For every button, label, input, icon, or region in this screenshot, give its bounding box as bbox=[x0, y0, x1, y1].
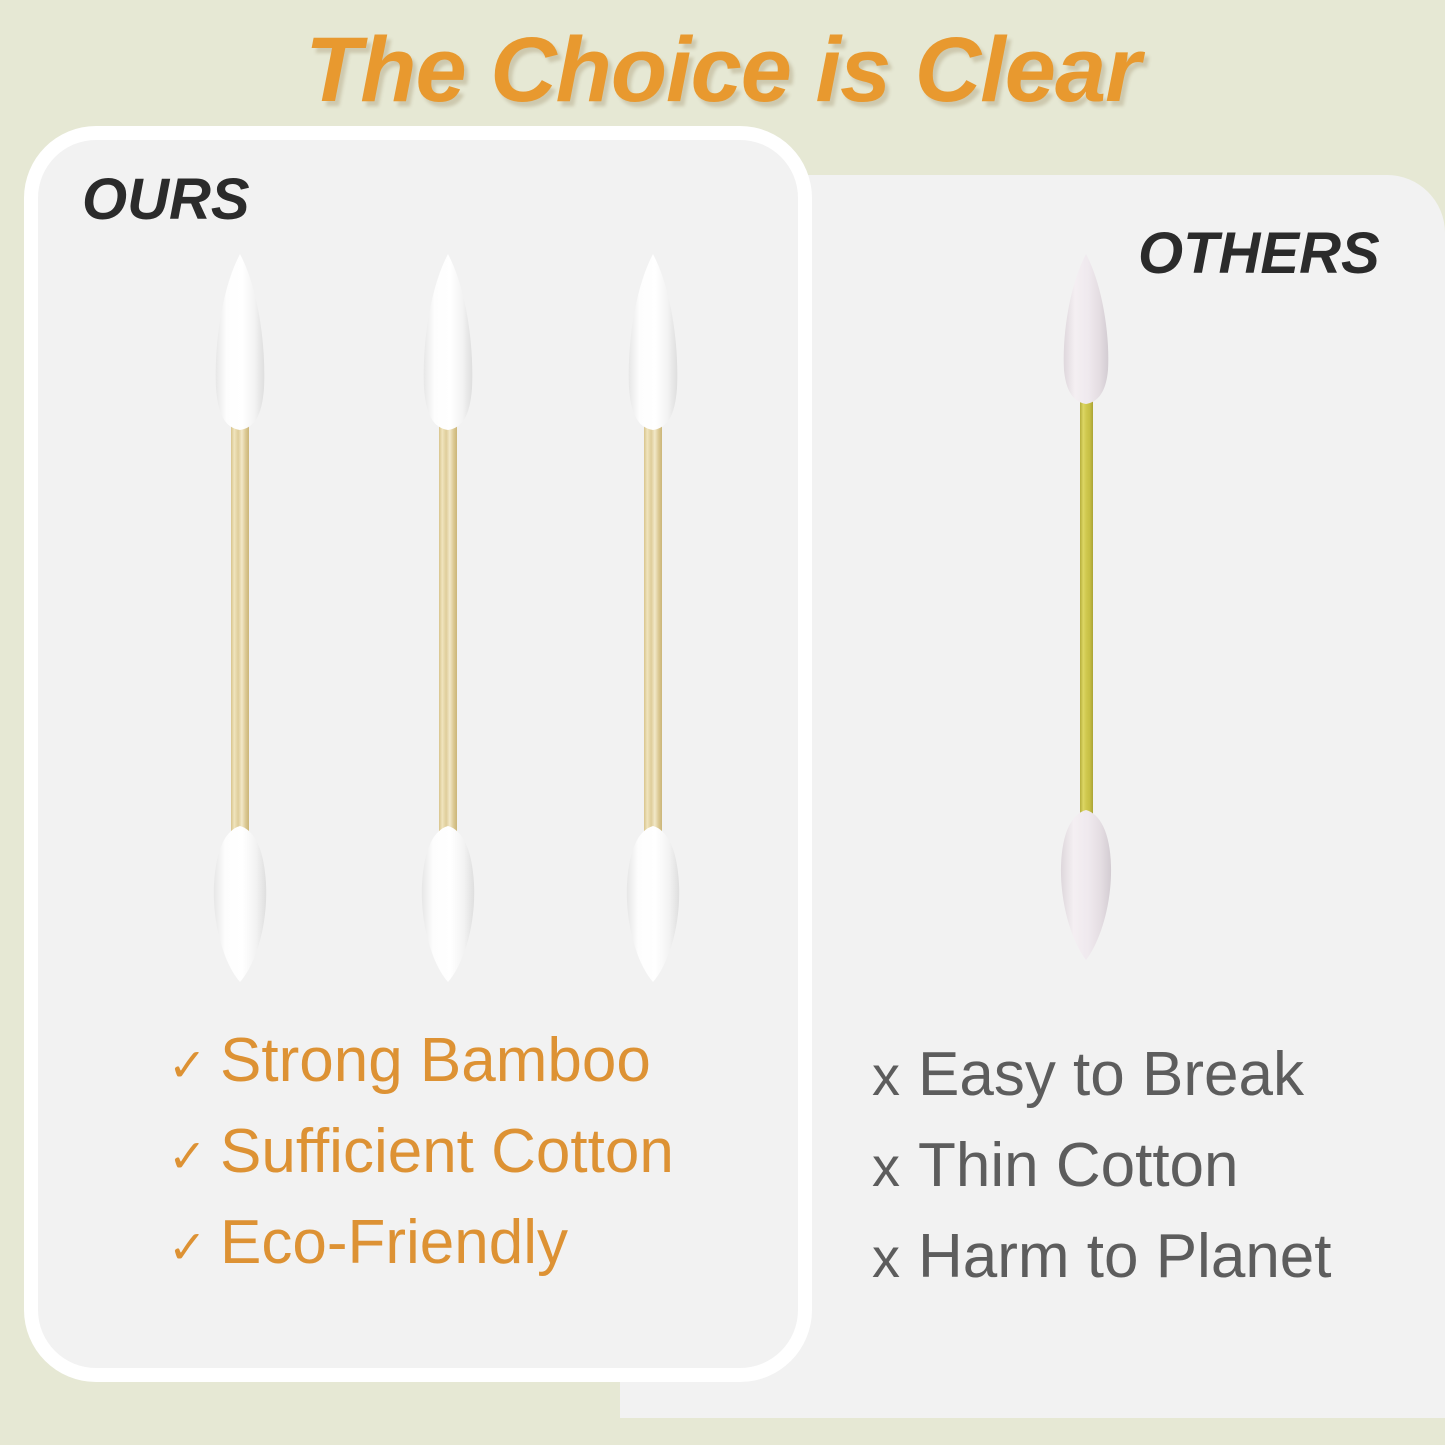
feature-label: Easy to Break bbox=[918, 1042, 1304, 1107]
cross-icon: x bbox=[872, 1139, 918, 1195]
page-title: The Choice is Clear bbox=[0, 18, 1445, 123]
bamboo-cotton-swab bbox=[170, 248, 310, 988]
plastic-cotton-swab bbox=[1022, 248, 1152, 968]
bamboo-cotton-swab bbox=[378, 248, 518, 988]
ours-feature-list: ✓ Strong Bamboo ✓ Sufficient Cotton ✓ Ec… bbox=[168, 1028, 674, 1301]
cross-icon: x bbox=[872, 1230, 918, 1286]
ours-label: OURS bbox=[82, 166, 250, 233]
others-label: OTHERS bbox=[1138, 220, 1380, 287]
list-item: ✓ Strong Bamboo bbox=[168, 1028, 674, 1093]
others-feature-list: x Easy to Break x Thin Cotton x Harm to … bbox=[872, 1042, 1332, 1315]
check-icon: ✓ bbox=[168, 1042, 220, 1088]
feature-label: Eco-Friendly bbox=[220, 1210, 568, 1275]
list-item: ✓ Eco-Friendly bbox=[168, 1210, 674, 1275]
feature-label: Strong Bamboo bbox=[220, 1028, 651, 1093]
feature-label: Thin Cotton bbox=[918, 1133, 1239, 1198]
cross-icon: x bbox=[872, 1048, 918, 1104]
feature-label: Harm to Planet bbox=[918, 1224, 1332, 1289]
list-item: x Easy to Break bbox=[872, 1042, 1332, 1107]
bamboo-cotton-swab bbox=[583, 248, 723, 988]
list-item: x Harm to Planet bbox=[872, 1224, 1332, 1289]
check-icon: ✓ bbox=[168, 1133, 220, 1179]
check-icon: ✓ bbox=[168, 1224, 220, 1270]
list-item: x Thin Cotton bbox=[872, 1133, 1332, 1198]
list-item: ✓ Sufficient Cotton bbox=[168, 1119, 674, 1184]
feature-label: Sufficient Cotton bbox=[220, 1119, 674, 1184]
